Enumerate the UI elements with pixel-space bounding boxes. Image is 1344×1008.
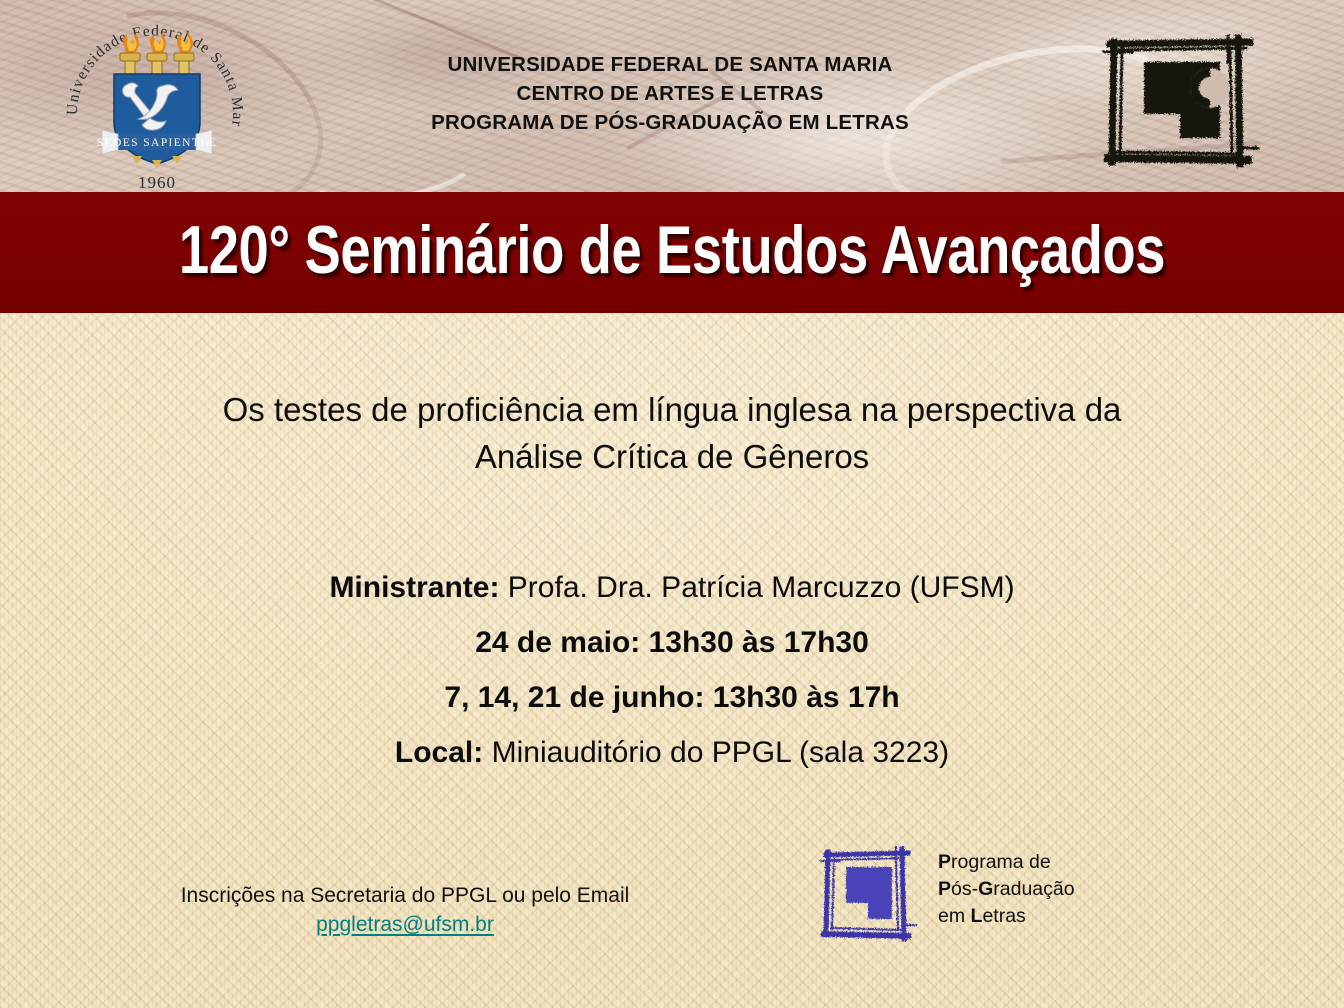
ppgl-logo-icon bbox=[812, 843, 920, 947]
venue-label: Local: bbox=[395, 736, 483, 769]
talk-title: Os testes de proficiência em língua ingl… bbox=[92, 386, 1252, 480]
venue-value: Miniauditório do PPGL (sala 3223) bbox=[492, 736, 949, 769]
speaker-name: Profa. Dra. Patrícia Marcuzzo (UFSM) bbox=[508, 571, 1015, 604]
date-row-1: 24 de maio: 13h30 às 17h30 bbox=[92, 615, 1252, 670]
registration-info: Inscrições na Secretaria do PPGL ou pelo… bbox=[60, 881, 750, 939]
event-details: Ministrante: Profa. Dra. Patrícia Marcuz… bbox=[92, 560, 1252, 780]
seminar-title: 120° Seminário de Estudos Avançados bbox=[134, 202, 1209, 298]
title-banner: 120° Seminário de Estudos Avançados bbox=[0, 192, 1344, 313]
institution-line-2: CENTRO DE ARTES E LETRAS bbox=[290, 79, 1050, 108]
institution-line-3: PROGRAMA DE PÓS-GRADUAÇÃO EM LETRAS bbox=[290, 108, 1050, 137]
talk-title-line-2: Análise Crítica de Gêneros bbox=[92, 433, 1252, 480]
main-content: Os testes de proficiência em língua ingl… bbox=[0, 313, 1344, 1008]
talk-title-line-1: Os testes de proficiência em língua ingl… bbox=[92, 386, 1252, 433]
svg-text:1960: 1960 bbox=[138, 173, 176, 192]
ppgl-caption-line-2: Pós-Graduação bbox=[938, 876, 1228, 903]
speaker-label: Ministrante: bbox=[329, 571, 499, 604]
institution-header: UNIVERSIDADE FEDERAL DE SANTA MARIA CENT… bbox=[290, 50, 1050, 137]
ufsm-crest-icon: Universidade Federal de Santa Maria bbox=[62, 18, 248, 196]
ppgl-caption-line-1: Programa de bbox=[938, 849, 1228, 876]
svg-text:SEDES SAPIENTIÆ: SEDES SAPIENTIÆ bbox=[97, 137, 217, 149]
ppgl-caption-line-3: em Letras bbox=[938, 903, 1228, 930]
registration-text: Inscrições na Secretaria do PPGL ou pelo… bbox=[60, 881, 750, 910]
date-row-2: 7, 14, 21 de junho: 13h30 às 17h bbox=[92, 670, 1252, 725]
institution-line-1: UNIVERSIDADE FEDERAL DE SANTA MARIA bbox=[290, 50, 1050, 79]
email-link[interactable]: ppgletras@ufsm.br bbox=[316, 913, 494, 936]
poster-root: Universidade Federal de Santa Maria bbox=[0, 0, 1344, 1008]
speaker-row: Ministrante: Profa. Dra. Patrícia Marcuz… bbox=[92, 560, 1252, 615]
ppgl-caption: Programa de Pós-Graduação em Letras bbox=[938, 849, 1228, 930]
venue-row: Local: Miniauditório do PPGL (sala 3223) bbox=[92, 725, 1252, 780]
ppgl-badge: Programa de Pós-Graduação em Letras bbox=[812, 837, 1232, 957]
ppgl-logo-icon bbox=[1088, 28, 1268, 178]
